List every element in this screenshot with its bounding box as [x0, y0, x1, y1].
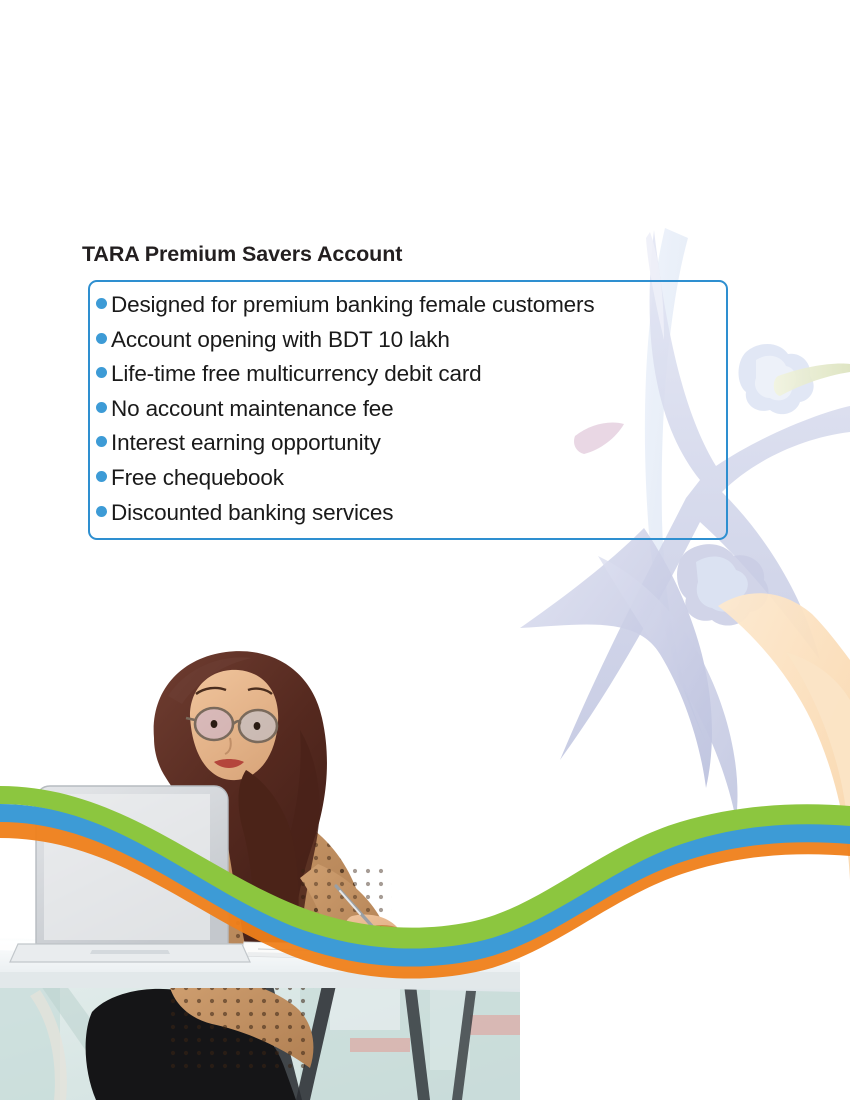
decor-blossom-top-inner	[755, 356, 796, 401]
list-item: Discounted banking services	[96, 496, 736, 531]
photo-woman-working-on-laptop	[0, 620, 520, 1100]
feature-label: Interest earning opportunity	[111, 426, 381, 461]
decor-blossom-top	[739, 344, 814, 414]
decor-sweep-lower	[520, 528, 712, 788]
feature-label: Account opening with BDT 10 lakh	[111, 323, 450, 358]
bullet-dot-icon	[96, 333, 107, 344]
decor-swoosh-peach-2	[786, 652, 850, 872]
seated-lower-body	[86, 977, 314, 1100]
feature-label: Designed for premium banking female cust…	[111, 288, 594, 323]
laptop	[10, 786, 250, 962]
feature-list: Designed for premium banking female cust…	[96, 288, 736, 530]
decor-swoosh-peach	[718, 593, 850, 880]
feature-label: Life-time free multicurrency debit card	[111, 357, 482, 392]
decor-leaf-green	[774, 364, 850, 397]
page-title: TARA Premium Savers Account	[82, 242, 402, 267]
bullet-dot-icon	[96, 367, 107, 378]
brochure-page: TARA Premium Savers Account Designed for…	[0, 0, 850, 1100]
bullet-dot-icon	[96, 436, 107, 447]
list-item: Free chequebook	[96, 461, 736, 496]
feature-label: Free chequebook	[111, 461, 284, 496]
decor-sweep-lower-2	[598, 556, 738, 820]
bullet-dot-icon	[96, 471, 107, 482]
list-item: Life-time free multicurrency debit card	[96, 357, 736, 392]
bullet-dot-icon	[96, 506, 107, 517]
list-item: Account opening with BDT 10 lakh	[96, 323, 736, 358]
list-item: No account maintenance fee	[96, 392, 736, 427]
feature-label: No account maintenance fee	[111, 392, 394, 427]
decor-blossom-lower	[677, 544, 768, 625]
bullet-dot-icon	[96, 298, 107, 309]
list-item: Designed for premium banking female cust…	[96, 288, 736, 323]
decor-blossom-lower-inner	[696, 556, 748, 611]
feature-label: Discounted banking services	[111, 496, 393, 531]
list-item: Interest earning opportunity	[96, 426, 736, 461]
bullet-dot-icon	[96, 402, 107, 413]
